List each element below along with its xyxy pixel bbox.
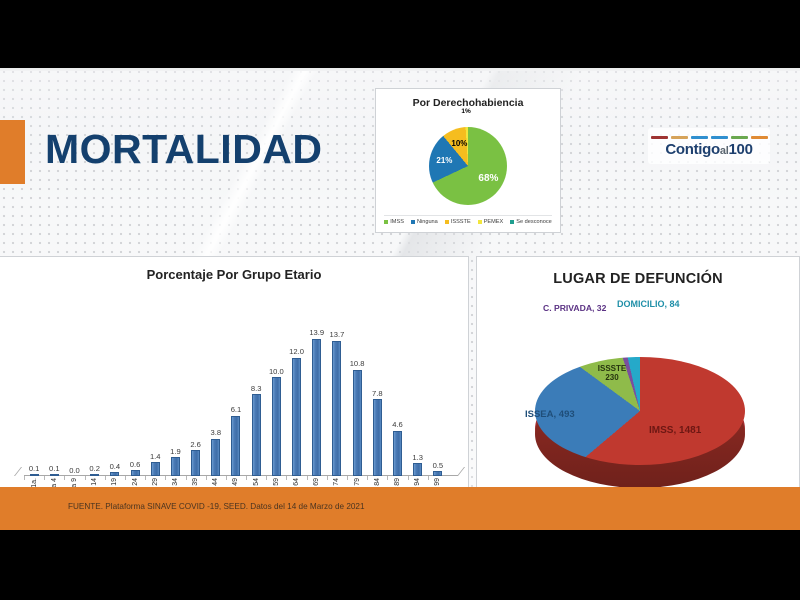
bar-item: 0.4 [105, 321, 125, 476]
bar-value-label: 3.8 [211, 428, 222, 437]
legend-divider [384, 215, 552, 216]
bar-item: 1.9 [165, 321, 185, 476]
bar-value-label: 10.0 [269, 367, 284, 376]
bar-value-label: 8.3 [251, 384, 262, 393]
bar-item: 0.5 [428, 321, 448, 476]
legend-label: ISSSTE [451, 219, 471, 225]
bar [171, 457, 180, 476]
bar-item: 13.7 [327, 321, 347, 476]
derechohabiencia-chart-title: Por Derechohabiencia [376, 97, 560, 109]
legend-label: PEMEX [484, 219, 504, 225]
screenshot-stage: MORTALIDAD Contigoal100 Por Derechohabie… [0, 0, 800, 600]
bar [332, 341, 341, 476]
bar-value-label: 12.0 [289, 347, 304, 356]
bar-item: 0.0 [64, 321, 84, 476]
bar [312, 339, 321, 476]
logo-bar-6 [751, 136, 768, 139]
logo-wordmark: Contigoal100 [665, 142, 752, 157]
bar-item: 4.6 [387, 321, 407, 476]
bar-item: 6.1 [226, 321, 246, 476]
pie3d-label-issste: ISSSTE 230 [595, 365, 629, 383]
bar [393, 431, 402, 476]
page-title: MORTALIDAD [45, 126, 323, 173]
bar-value-label: 0.1 [49, 464, 60, 473]
bar-value-label: 1.9 [170, 447, 181, 456]
legend-label: IMSS [390, 219, 404, 225]
logo-bar-5 [731, 136, 748, 139]
bar [272, 377, 281, 476]
bar [151, 462, 160, 476]
title-accent-block [0, 120, 25, 184]
legend-swatch [478, 220, 482, 224]
bar [252, 394, 261, 476]
bar-item: 0.1 [24, 321, 44, 476]
bar [211, 439, 220, 477]
logo-bar-1 [651, 136, 668, 139]
legend-swatch [411, 220, 415, 224]
bar-item: 10.0 [266, 321, 286, 476]
bar [292, 358, 301, 476]
bar-item: 12.0 [286, 321, 306, 476]
legend-swatch [384, 220, 388, 224]
logo-text-contigo: Contigo [665, 141, 720, 158]
pie3d-label-domicilio: DOMICILIO, 84 [617, 299, 680, 309]
logo-bar-2 [671, 136, 688, 139]
bar-value-label: 0.5 [433, 461, 444, 470]
logo-bar-4 [711, 136, 728, 139]
grupo-etario-chart-title: Porcentaje Por Grupo Etario [0, 267, 468, 282]
pie-slice-label-ninguna: 21% [436, 156, 452, 165]
logo-color-bars [651, 136, 768, 139]
letterbox-bottom [0, 530, 800, 600]
derechohabiencia-legend: IMSSNingunaISSSTEPEMEXSe desconoce [376, 219, 560, 225]
bar-item: 0.1 [44, 321, 64, 476]
bar-value-label: 0.6 [130, 460, 141, 469]
source-note: FUENTE. Plataforma SINAVE COVID -19, SEE… [68, 502, 365, 511]
bar-value-label: 0.0 [69, 466, 80, 475]
bar [353, 370, 362, 477]
bar-item: 1.4 [145, 321, 165, 476]
letterbox-top [0, 0, 800, 68]
bar [231, 416, 240, 476]
bar-value-label: 2.6 [190, 440, 201, 449]
bar-value-label: 1.3 [412, 453, 423, 462]
bar-item: 7.8 [367, 321, 387, 476]
bar-series: 0.10.10.00.20.40.61.41.92.63.86.18.310.0… [24, 321, 448, 476]
bar-item: 1.3 [408, 321, 428, 476]
bar-item: 2.6 [186, 321, 206, 476]
bar [191, 450, 200, 476]
bar-item: 13.9 [307, 321, 327, 476]
legend-item-pemex: PEMEX [478, 219, 504, 225]
bar-item: 10.8 [347, 321, 367, 476]
pie-slice-label-pemex: 1% [461, 108, 470, 115]
logo-bar-3 [691, 136, 708, 139]
bar-item: 0.2 [85, 321, 105, 476]
pie3d-label-issea: ISSEA, 493 [525, 409, 575, 420]
bar-value-label: 0.1 [29, 464, 40, 473]
pie3d-label-imss: IMSS, 1481 [649, 425, 701, 436]
bar-value-label: 0.2 [89, 464, 100, 473]
legend-item-ninguna: Ninguna [411, 219, 438, 225]
x-axis-right-wall [445, 467, 465, 476]
legend-swatch [445, 220, 449, 224]
bar [373, 399, 382, 476]
pie-slice-label-issste: 10% [451, 139, 467, 148]
bar-value-label: 0.4 [110, 462, 121, 471]
bar-item: 3.8 [206, 321, 226, 476]
bar-value-label: 4.6 [392, 420, 403, 429]
derechohabiencia-pie [429, 127, 507, 205]
bar-value-label: 10.8 [350, 359, 365, 368]
bar-value-label: 6.1 [231, 405, 242, 414]
legend-item-issste: ISSSTE [445, 219, 471, 225]
legend-item-imss: IMSS [384, 219, 404, 225]
legend-label: Se desconoce [516, 219, 551, 225]
logo-text-100: 100 [728, 141, 752, 158]
chart-panel-derechohabiencia: Por Derechohabiencia 68% 21% 10% 1% IMSS… [375, 88, 561, 233]
pie3d-label-clinica-privada: C. PRIVADA, 32 [543, 303, 606, 313]
bar-value-label: 1.4 [150, 452, 161, 461]
bar [413, 463, 422, 476]
presentation-slide: MORTALIDAD Contigoal100 Por Derechohabie… [0, 68, 800, 530]
bar-item: 0.6 [125, 321, 145, 476]
bar-value-label: 13.7 [330, 330, 345, 339]
bar-value-label: 13.9 [309, 328, 324, 337]
legend-item-se-desconoce: Se desconoce [510, 219, 551, 225]
pie-slice-label-imss: 68% [478, 173, 498, 184]
bar-item: 8.3 [246, 321, 266, 476]
legend-swatch [510, 220, 514, 224]
legend-label: Ninguna [417, 219, 438, 225]
contigo-al-100-logo: Contigoal100 [648, 128, 770, 164]
bar-value-label: 7.8 [372, 389, 383, 398]
